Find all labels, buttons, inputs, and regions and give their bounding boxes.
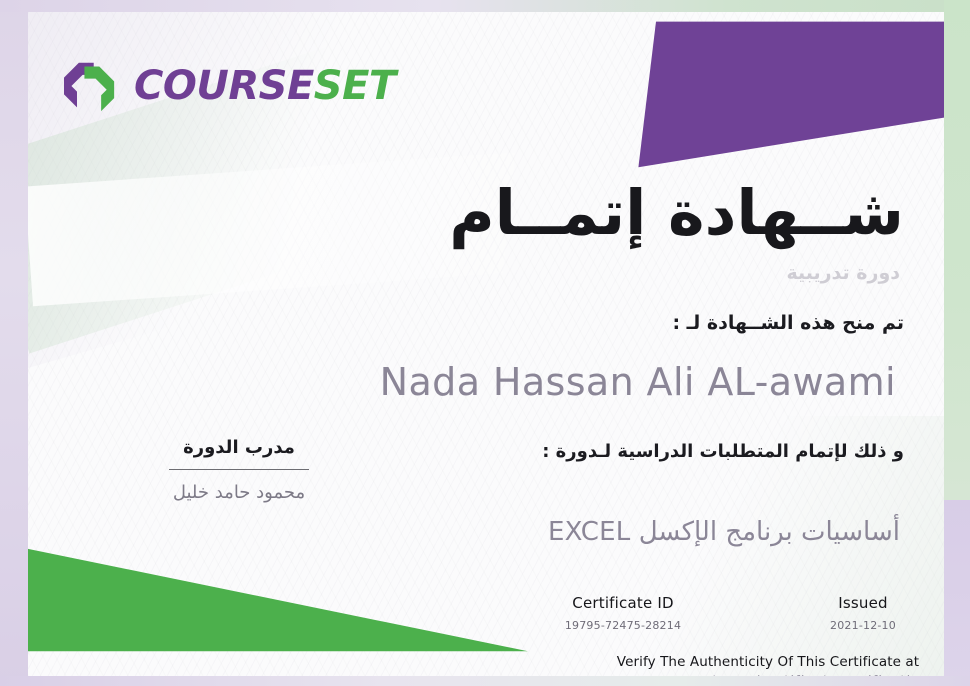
awarded-to-label: تم منح هذه الشــهادة لـ :	[284, 312, 904, 334]
frame-band-top	[0, 0, 970, 12]
verification-url[interactable]: www.courseset.com/certificate-verificati…	[568, 674, 944, 676]
certificate-title: شــهادة إتمــام	[344, 180, 904, 245]
certificate-id-block: Certificate ID 19795-72475-28214	[508, 594, 738, 632]
decorative-purple-quadrilateral	[624, 12, 944, 172]
brand-word-course: COURSE	[134, 63, 314, 109]
brand-wordmark: COURSESET	[134, 66, 396, 106]
requirement-text: و ذلك لإتمام المتطلبات الدراسية لـدورة :	[474, 437, 904, 468]
instructor-role-label: مدرب الدورة	[124, 437, 354, 458]
certificate-page: COURSESET شــهادة إتمــام دورة تدريبية ت…	[0, 0, 970, 686]
brand-logo: COURSESET	[62, 60, 396, 112]
frame-band-left	[0, 0, 28, 686]
certificate-subtitle: دورة تدريبية	[340, 262, 900, 284]
frame-band-right-green	[944, 0, 970, 500]
verification-text: Verify The Authenticity Of This Certific…	[568, 654, 944, 670]
courseset-cs-monogram-icon	[62, 60, 118, 112]
recipient-name: Nada Hassan Ali AL-awami	[256, 360, 896, 404]
instructor-name: محمود حامد خليل	[124, 482, 354, 503]
certificate-id-value: 19795-72475-28214	[508, 619, 738, 632]
certificate-meta-row: Certificate ID 19795-72475-28214 Issued …	[508, 594, 944, 632]
issued-value: 2021-12-10	[758, 619, 944, 632]
brand-word-set: SET	[314, 63, 396, 109]
course-name: أساسيات برنامج الإكسل EXCEL	[430, 517, 900, 547]
issued-block: Issued 2021-12-10	[758, 594, 944, 632]
certificate-paper: COURSESET شــهادة إتمــام دورة تدريبية ت…	[28, 12, 944, 676]
instructor-block: مدرب الدورة محمود حامد خليل	[124, 437, 354, 503]
certificate-id-label: Certificate ID	[508, 594, 738, 612]
verification-block: Verify The Authenticity Of This Certific…	[568, 654, 944, 676]
issued-label: Issued	[758, 594, 944, 612]
frame-band-bottom	[0, 676, 970, 686]
signature-rule	[169, 469, 309, 470]
frame-band-right-purple	[944, 500, 970, 686]
